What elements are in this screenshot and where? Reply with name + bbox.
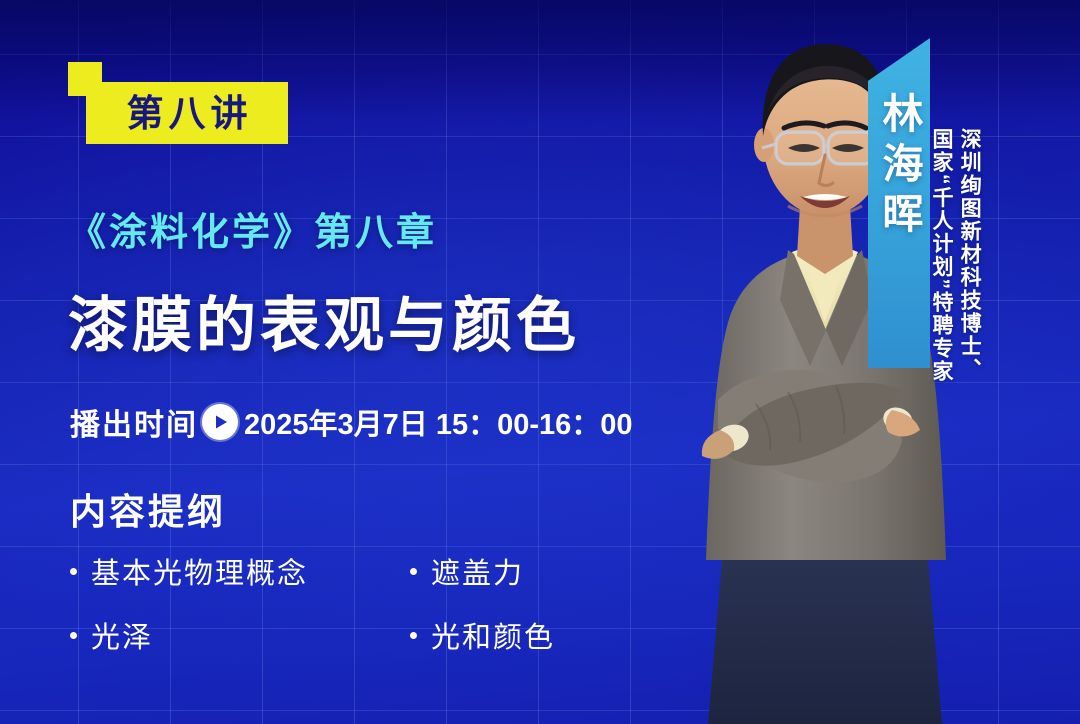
list-item: 光和颜色 bbox=[410, 614, 690, 656]
badge-label: 第八讲 bbox=[122, 95, 253, 132]
broadcast-time-row: 播出时间 2025年3月7日 15：00-16：00 bbox=[70, 400, 633, 444]
speaker-credentials: 深圳绚图新材科技博士、 国家“千人计划”特聘专家 bbox=[930, 128, 980, 408]
badge-box: 第八讲 bbox=[86, 82, 288, 144]
outline-item-label: 光和颜色 bbox=[431, 614, 555, 656]
outline-item-label: 基本光物理概念 bbox=[91, 550, 308, 592]
broadcast-time-label: 播出时间 bbox=[70, 400, 198, 444]
bullet-dot-icon bbox=[70, 632, 77, 639]
list-item: 基本光物理概念 bbox=[70, 550, 410, 592]
outline-item-label: 遮盖力 bbox=[431, 550, 524, 592]
page-title: 漆膜的表观与颜色 bbox=[68, 296, 580, 356]
outline-list: 基本光物理概念 遮盖力 光泽 光和颜色 bbox=[70, 550, 690, 656]
bullet-dot-icon bbox=[410, 568, 417, 575]
bullet-dot-icon bbox=[70, 568, 77, 575]
webinar-poster: 第八讲 bbox=[0, 0, 1080, 724]
bullet-dot-icon bbox=[410, 632, 417, 639]
speaker-credential-line-2: 国家“千人计划”特聘专家 bbox=[930, 128, 952, 408]
list-item: 光泽 bbox=[70, 614, 410, 656]
list-item: 遮盖力 bbox=[410, 550, 690, 592]
outline-heading: 内容提纲 bbox=[70, 483, 226, 535]
speaker-name: 林海晖 bbox=[869, 92, 929, 242]
speaker-credential-line-1: 深圳绚图新材科技博士、 bbox=[958, 128, 980, 408]
course-subtitle: 《涂料化学》第八章 bbox=[68, 201, 437, 256]
play-icon[interactable] bbox=[202, 404, 238, 440]
broadcast-time-value: 2025年3月7日 15：00-16：00 bbox=[244, 401, 633, 443]
outline-item-label: 光泽 bbox=[91, 614, 153, 656]
speaker-name-panel: 林海晖 bbox=[868, 38, 930, 368]
